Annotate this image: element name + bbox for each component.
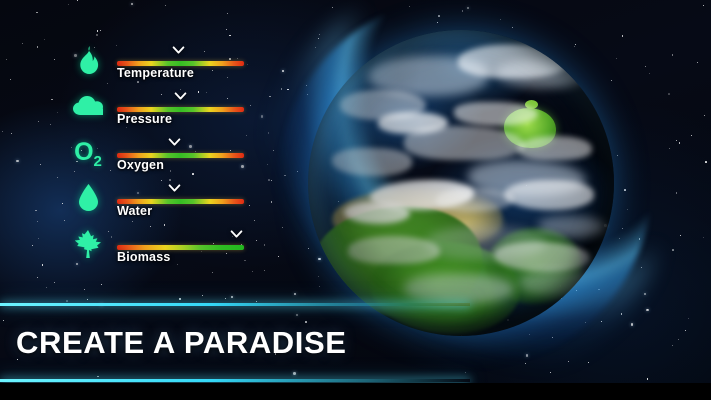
chevron-down-icon [168,136,181,149]
stat-label: Pressure [117,112,172,126]
planet-stats-panel: TemperaturePressureO2OxygenWaterBiomass [66,40,256,270]
game-screenshot: TemperaturePressureO2OxygenWaterBiomass … [0,0,711,400]
banner-bottom-edge [0,379,470,382]
headline-text: CREATE A PARADISE [16,325,347,361]
leaf-icon [75,230,101,263]
stat-label: Oxygen [117,158,164,172]
bottom-letterbox [0,383,711,400]
chevron-down-icon [230,228,243,241]
chevron-down-icon [172,44,185,57]
stat-row-pressure[interactable]: Pressure [66,86,256,132]
flame-icon [76,46,100,79]
stat-label: Water [117,204,152,218]
stat-row-biomass[interactable]: Biomass [66,224,256,270]
planet-rim-light [308,30,614,336]
cloud-icon [73,96,103,121]
droplet-icon [79,184,98,216]
banner-top-edge [0,303,470,306]
stat-row-water[interactable]: Water [66,178,256,224]
o2-icon: O2 [74,140,102,169]
terraformed-planet[interactable] [300,18,630,348]
stat-label: Biomass [117,250,171,264]
stat-label: Temperature [117,66,194,80]
stat-row-oxygen[interactable]: O2Oxygen [66,132,256,178]
chevron-down-icon [174,90,187,103]
stat-row-temperature[interactable]: Temperature [66,40,256,86]
chevron-down-icon [168,182,181,195]
planet-globe [308,30,614,336]
